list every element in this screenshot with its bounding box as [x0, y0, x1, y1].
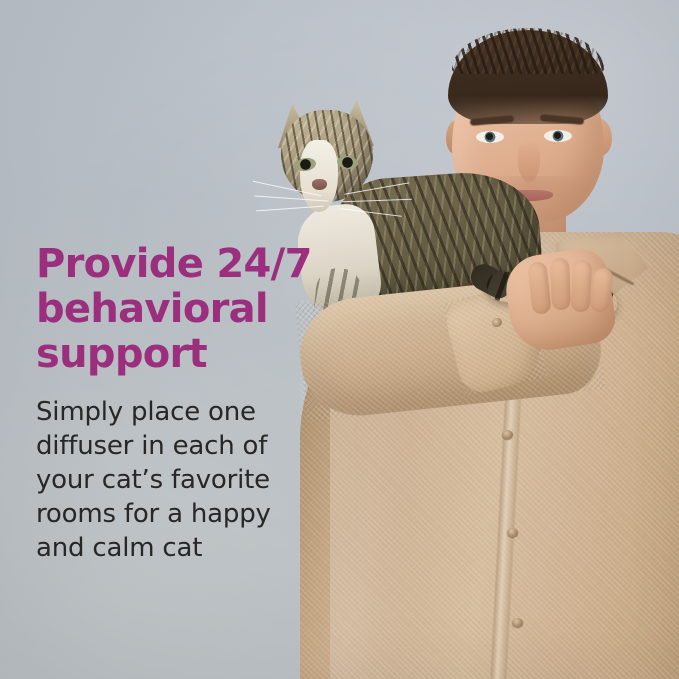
pupil-left: [486, 133, 493, 140]
headline-line-1: Provide 24/7: [36, 242, 336, 287]
hair-texture: [452, 28, 604, 74]
shirt-button: [502, 430, 513, 439]
cat-whiskers: [252, 170, 412, 240]
shirt-button: [507, 528, 518, 537]
nose: [518, 140, 540, 182]
finger: [550, 258, 571, 311]
headline: Provide 24/7 behavioral support: [36, 242, 336, 377]
headline-line-3: support: [36, 332, 336, 377]
pupil-right: [554, 132, 561, 139]
copy-block: Provide 24/7 behavioral support Simply p…: [36, 242, 336, 565]
body-copy: Simply place one diffuser in each of you…: [36, 395, 286, 565]
finger: [571, 260, 593, 313]
shirt-button: [512, 618, 523, 627]
product-lifestyle-ad: Provide 24/7 behavioral support Simply p…: [0, 0, 679, 679]
headline-line-2: behavioral: [36, 287, 336, 332]
